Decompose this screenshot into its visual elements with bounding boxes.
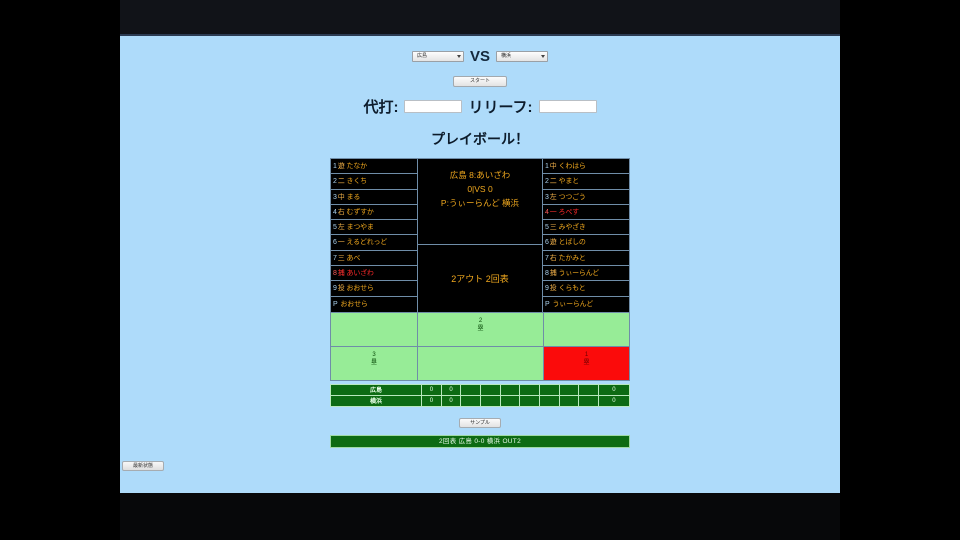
roster-position: 三	[338, 255, 345, 262]
base-number: 3	[331, 351, 417, 359]
scoreboard-table: 広島000横浜000	[330, 384, 630, 407]
roster-row[interactable]: 2二やまと	[543, 174, 629, 189]
roster-player-name: くわはら	[559, 163, 586, 170]
roster-row[interactable]: Pおおせら	[331, 297, 417, 312]
score-line: 0|VS 0	[418, 182, 542, 196]
scoreboard-inning-cell	[481, 395, 501, 406]
relief-label: リリーフ:	[468, 96, 532, 117]
roster-row[interactable]: 7三あべ	[331, 251, 417, 266]
base-number: 2	[418, 317, 543, 325]
roster-order-number: 3	[545, 194, 549, 201]
roster-row[interactable]: 4右むずすか	[331, 205, 417, 220]
scoreboard-inning-cell	[500, 384, 520, 395]
browser-chrome-top	[120, 0, 840, 34]
roster-position: 右	[550, 255, 557, 262]
substitution-row: 代打: リリーフ:	[120, 96, 840, 117]
scoreboard-inning-cell	[500, 395, 520, 406]
roster-player-name: くらもと	[559, 285, 586, 292]
roster-position: 投	[550, 285, 557, 292]
vs-label: VS	[470, 48, 490, 65]
status-bar: 2回表 広島 0-0 横浜 OUT2	[330, 435, 630, 448]
roster-row[interactable]: 4一ろぺす	[543, 205, 629, 220]
scoreboard-inning-cell	[579, 395, 599, 406]
base-cell[interactable]: 3塁	[330, 347, 417, 381]
screen-root: 広島 VS 横浜 スタート 代打: リリーフ: プレイボール！ 1遊たなか2二き…	[0, 0, 960, 540]
away-team-select[interactable]: 横浜	[496, 51, 548, 62]
roster-row[interactable]: 1遊たなか	[331, 159, 417, 174]
mid-button-row: サンプル	[330, 411, 630, 429]
sample-button[interactable]: サンプル	[459, 418, 501, 428]
roster-order-number: P	[545, 301, 549, 308]
roster-player-name: きくち	[347, 178, 367, 185]
roster-order-number: 8	[333, 270, 337, 277]
scoreboard-inning-cell: 0	[441, 384, 461, 395]
scoreboard-inning-cell	[579, 384, 599, 395]
scoreboard-inning-cell: 0	[422, 395, 442, 406]
chevron-down-icon	[541, 55, 545, 58]
roster-order-number: 2	[545, 178, 549, 185]
roster-row[interactable]: 5左まつやま	[331, 220, 417, 235]
page-headline: プレイボール！	[120, 129, 840, 149]
roster-position: 一	[338, 239, 345, 246]
scoreboard-inning-cell	[559, 384, 579, 395]
base-number: 1	[544, 351, 629, 359]
roster-player-name: おおせら	[347, 285, 374, 292]
base-cell[interactable]	[330, 313, 417, 347]
roster-order-number: 8	[545, 270, 549, 277]
roster-row[interactable]: 1中くわはら	[543, 159, 629, 174]
scoreboard-row: 横浜000	[331, 395, 630, 406]
refresh-state-button[interactable]: 最新状態	[122, 461, 164, 471]
home-team-value: 広島	[417, 53, 427, 59]
relief-pitcher-input[interactable]	[539, 100, 597, 113]
board-top: 1遊たなか2二きくち3中まる4右むずすか5左まつやま6一えるどれっど7三あべ8捕…	[330, 158, 630, 313]
roster-position: 左	[338, 224, 345, 231]
base-cell[interactable]	[543, 313, 630, 347]
base-label: 塁	[331, 359, 417, 367]
roster-position: 投	[338, 285, 345, 292]
roster-row[interactable]: 6一えるどれっど	[331, 235, 417, 250]
center-info-panel: 広島 8:あいざわ 0|VS 0 P:うぃーらんど 横浜 2アウト 2回表	[417, 158, 543, 313]
roster-order-number: 9	[545, 285, 549, 292]
scoreboard-team-name: 広島	[331, 384, 422, 395]
home-team-select[interactable]: 広島	[412, 51, 464, 62]
roster-position: 中	[338, 194, 345, 201]
scoreboard-inning-cell	[520, 384, 540, 395]
start-row: スタート	[120, 69, 840, 87]
roster-player-name: たかみと	[559, 255, 586, 262]
batter-line: 広島 8:あいざわ	[418, 168, 542, 182]
roster-order-number: 6	[333, 239, 337, 246]
roster-row[interactable]: 3左つつごう	[543, 190, 629, 205]
pinch-hitter-label: 代打:	[363, 96, 398, 117]
roster-position: 二	[550, 178, 557, 185]
roster-order-number: 4	[545, 209, 549, 216]
base-cell[interactable]: 1塁	[543, 347, 630, 381]
roster-order-number: 1	[333, 163, 337, 170]
roster-position: 捕	[338, 270, 345, 277]
roster-row[interactable]: 8捕あいざわ	[331, 266, 417, 281]
roster-order-number: 7	[333, 255, 337, 262]
bases-row-lower: 3塁1塁	[330, 347, 630, 381]
roster-order-number: 5	[545, 224, 549, 231]
scoreboard-inning-cell	[481, 384, 501, 395]
scoreboard-inning-cell	[461, 384, 481, 395]
roster-player-name: むずすか	[347, 209, 374, 216]
roster-player-name: まる	[347, 194, 361, 201]
roster-row[interactable]: 8捕うぃーらんど	[543, 266, 629, 281]
roster-position: 左	[550, 194, 557, 201]
scoreboard-inning-cell	[520, 395, 540, 406]
roster-row[interactable]: 9投おおせら	[331, 281, 417, 296]
base-label: 塁	[544, 359, 629, 367]
roster-player-name: うぃーらんど	[552, 301, 593, 308]
scoreboard-inning-cell	[461, 395, 481, 406]
start-button[interactable]: スタート	[453, 76, 507, 87]
roster-player-name: まつやま	[347, 224, 374, 231]
roster-player-name: つつごう	[559, 194, 586, 201]
roster-position: 遊	[338, 163, 345, 170]
roster-position: 二	[338, 178, 345, 185]
roster-player-name: あいざわ	[347, 270, 374, 277]
roster-player-name: みやざき	[559, 224, 586, 231]
roster-row[interactable]: 7右たかみと	[543, 251, 629, 266]
center-top: 広島 8:あいざわ 0|VS 0 P:うぃーらんど 横浜	[418, 159, 542, 245]
game-board: 1遊たなか2二きくち3中まる4右むずすか5左まつやま6一えるどれっど7三あべ8捕…	[330, 158, 630, 448]
roster-row[interactable]: 9投くらもと	[543, 281, 629, 296]
scoreboard-total-cell: 0	[598, 395, 629, 406]
roster-player-name: うぃーらんど	[559, 270, 600, 277]
away-team-value: 横浜	[501, 53, 511, 59]
roster-order-number: 3	[333, 194, 337, 201]
browser-chrome-bottom	[120, 493, 840, 540]
roster-position: 捕	[550, 270, 557, 277]
roster-order-number: 4	[333, 209, 337, 216]
scoreboard-inning-cell	[559, 395, 579, 406]
roster-order-number: 9	[333, 285, 337, 292]
roster-player-name: とばしの	[559, 239, 586, 246]
roster-row[interactable]: 2二きくち	[331, 174, 417, 189]
out-inning-line: 2アウト 2回表	[451, 272, 509, 285]
roster-order-number: 5	[333, 224, 337, 231]
chevron-down-icon	[457, 55, 461, 58]
roster-position: 中	[550, 163, 557, 170]
scoreboard-inning-cell	[539, 384, 559, 395]
roster-row[interactable]: 3中まる	[331, 190, 417, 205]
game-page: 広島 VS 横浜 スタート 代打: リリーフ: プレイボール！ 1遊たなか2二き…	[120, 36, 840, 493]
left-team-roster: 1遊たなか2二きくち3中まる4右むずすか5左まつやま6一えるどれっど7三あべ8捕…	[330, 158, 417, 313]
roster-player-name: やまと	[559, 178, 579, 185]
roster-player-name: あべ	[347, 255, 361, 262]
roster-row[interactable]: Pうぃーらんど	[543, 297, 629, 312]
right-team-roster: 1中くわはら2二やまと3左つつごう4一ろぺす5三みやざき6遊とばしの7右たかみと…	[543, 158, 630, 313]
pitcher-line: P:うぃーらんど 横浜	[418, 196, 542, 210]
footer-button-row: 最新状態	[122, 454, 840, 472]
roster-player-name: えるどれっど	[347, 239, 388, 246]
roster-player-name: おおせら	[340, 301, 367, 308]
scoreboard-inning-cell: 0	[422, 384, 442, 395]
scoreboard-inning-cell	[539, 395, 559, 406]
roster-order-number: 2	[333, 178, 337, 185]
pinch-hitter-input[interactable]	[404, 100, 462, 113]
roster-row[interactable]: 6遊とばしの	[543, 235, 629, 250]
roster-position: 三	[550, 224, 557, 231]
roster-order-number: P	[333, 301, 337, 308]
roster-position: 右	[338, 209, 345, 216]
scoreboard-row: 広島000	[331, 384, 630, 395]
base-cell[interactable]	[417, 347, 543, 381]
roster-order-number: 1	[545, 163, 549, 170]
roster-order-number: 6	[545, 239, 549, 246]
roster-player-name: ろぺす	[559, 209, 579, 216]
roster-row[interactable]: 5三みやざき	[543, 220, 629, 235]
matchup-row: 広島 VS 横浜	[120, 36, 840, 65]
scoreboard-team-name: 横浜	[331, 395, 422, 406]
base-label: 塁	[418, 325, 543, 333]
roster-position: 遊	[550, 239, 557, 246]
bases-row-upper: 2塁	[330, 313, 630, 347]
scoreboard-inning-cell: 0	[441, 395, 461, 406]
center-bottom: 2アウト 2回表	[418, 245, 542, 312]
scoreboard-total-cell: 0	[598, 384, 629, 395]
roster-player-name: たなか	[347, 163, 367, 170]
roster-position: 一	[550, 209, 557, 216]
base-cell[interactable]: 2塁	[417, 313, 543, 347]
roster-order-number: 7	[545, 255, 549, 262]
